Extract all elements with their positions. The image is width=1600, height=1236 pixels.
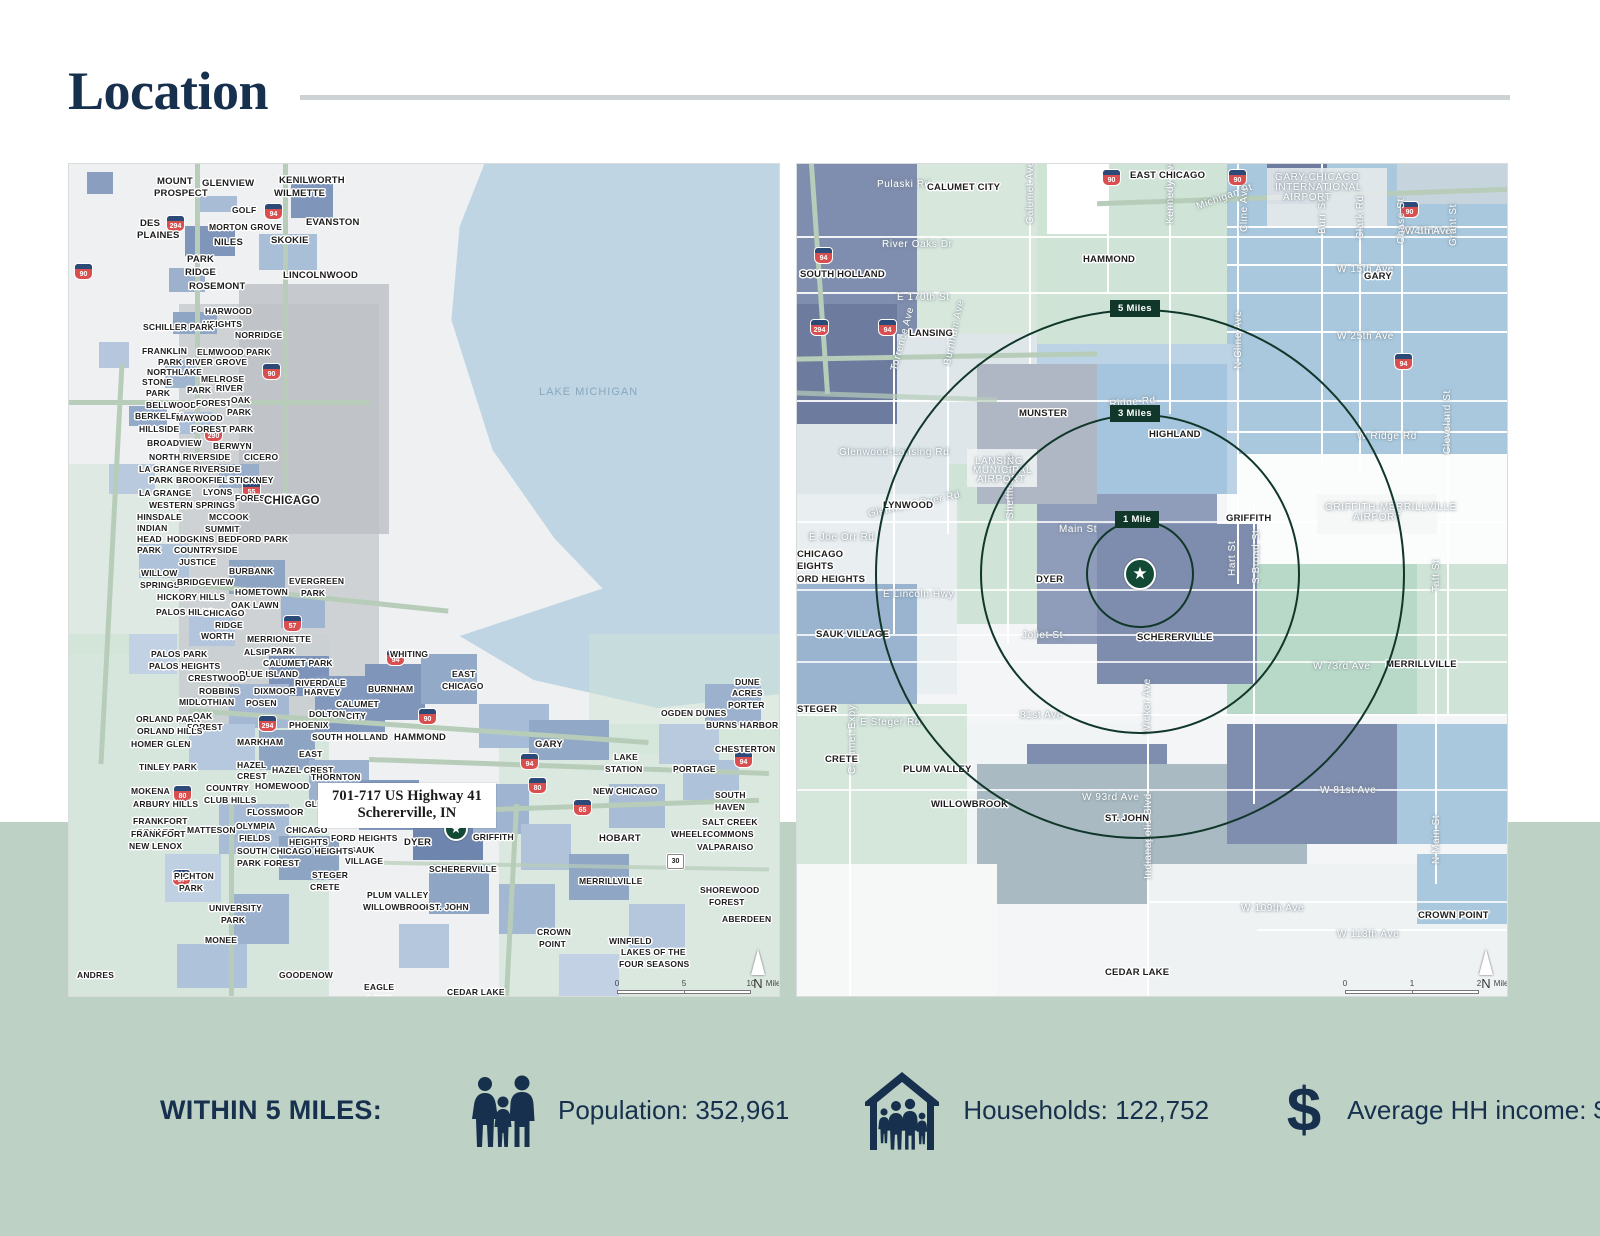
urban-core-2: [239, 284, 389, 534]
tract-block: [569, 854, 629, 900]
road-v11: [1401, 224, 1403, 464]
tract-block: [421, 654, 477, 704]
gary-airport-area: [1267, 168, 1387, 226]
shield-i90: 90: [75, 264, 92, 279]
radius-detail-map[interactable]: 94 294 94 90 90 90 94 Pulaski RdRiver Oa…: [796, 163, 1508, 997]
tract-block: [705, 684, 761, 726]
scale-unit: Miles: [1494, 979, 1508, 988]
tract-block: [87, 172, 113, 194]
house-family-icon: [859, 1068, 945, 1152]
tract-block: [291, 184, 333, 218]
north-arrow-icon: [751, 949, 765, 975]
title-divider: [300, 95, 1510, 100]
tract-block: [165, 360, 199, 388]
highway-i290: [69, 400, 369, 405]
address-line-1: 701-717 US Highway 41: [332, 788, 482, 805]
income-value: Average HH income: $95,230: [1347, 1095, 1600, 1126]
scale-bar-right: 0 1 2 Miles: [1345, 979, 1479, 994]
tract-block: [429, 864, 489, 914]
shield-i94c-right: 94: [1395, 354, 1412, 369]
highway-i57-s: [229, 804, 234, 997]
scale-bar-graphic: [617, 990, 751, 994]
stat-population: Population: 352,961: [464, 1071, 789, 1149]
tract-block: [629, 904, 685, 948]
tract-block: [99, 342, 129, 368]
shield-i57: 57: [284, 616, 301, 631]
road-h14: [1147, 901, 1508, 903]
ring-label-3-miles: 3 Miles: [1110, 405, 1160, 422]
tract-block: [259, 234, 317, 270]
scale-tick: 0: [615, 979, 619, 988]
tract-block: [197, 196, 237, 212]
tract-block: [259, 730, 315, 770]
stats-row: WITHIN 5 MILES: Population: 352,961: [0, 1055, 1600, 1165]
shield-i80: 80: [174, 786, 191, 801]
page-header: Location: [0, 0, 1600, 150]
tract-block: [129, 406, 167, 426]
households-value: Households: 122,752: [963, 1095, 1209, 1126]
tract-block: [365, 664, 425, 720]
shield-i294c: 294: [259, 716, 276, 731]
scale-tick: 5: [682, 979, 686, 988]
tract-block: [177, 944, 247, 988]
region-blue-sse: [1417, 854, 1508, 924]
highway-i94: [283, 164, 288, 494]
family-icon: [464, 1071, 542, 1149]
tract-block: [185, 226, 235, 256]
shield-i57b: 57: [173, 870, 190, 885]
shield-i90b-right: 90: [1229, 170, 1246, 185]
tract-block: [189, 616, 235, 646]
shield-i290: 290: [205, 426, 222, 441]
tract-block: [659, 724, 719, 764]
tract-block: [189, 724, 255, 770]
tract-block: [279, 836, 339, 880]
lake-michigan-label: LAKE MICHIGAN: [539, 386, 638, 398]
shield-i90b: 90: [263, 364, 280, 379]
shield-i94d: 94: [521, 754, 538, 769]
regional-overview-map[interactable]: 294 94 90 90 290 55 57 94 294 90 80 94 8…: [68, 163, 780, 997]
stat-households: Households: 122,752: [859, 1068, 1209, 1152]
dollar-icon: $: [1281, 1074, 1327, 1146]
scale-tick-labels: 0 1 2 Miles: [1345, 979, 1479, 990]
tract-block: [229, 894, 289, 944]
map-canvas-right: 94 294 94 90 90 90 94 Pulaski RdRiver Oa…: [797, 164, 1507, 996]
scale-bar-left: 0 5 10 Miles: [617, 979, 751, 994]
tract-block: [129, 634, 177, 674]
region-blue-se: [1397, 724, 1508, 844]
shield-i94b-right: 94: [879, 320, 896, 335]
shield-i55: 55: [243, 482, 260, 497]
tract-block: [139, 544, 189, 578]
shield-i80b: 80: [529, 778, 546, 793]
road-h15: [1257, 929, 1508, 931]
tract-block: [399, 924, 449, 968]
scale-tick: 1: [1410, 979, 1414, 988]
tract-block: [683, 760, 739, 800]
road-h3: [1227, 226, 1508, 228]
shield-i90c-right: 90: [1401, 202, 1418, 217]
shield-i94c: 94: [387, 650, 404, 665]
population-value: Population: 352,961: [558, 1095, 789, 1126]
region-green-e2: [1417, 564, 1508, 714]
road-v13: [1435, 584, 1437, 884]
shield-us30: 30: [667, 854, 684, 869]
region-white-n: [1047, 164, 1107, 234]
road-h5: [1227, 331, 1508, 333]
north-arrow-icon: [1479, 949, 1493, 975]
road-v12: [1447, 414, 1449, 714]
scale-tick-labels: 0 5 10 Miles: [617, 979, 751, 990]
road-v15: [849, 724, 851, 997]
scale-tick: 0: [1343, 979, 1347, 988]
stat-income: $ Average HH income: $95,230: [1281, 1074, 1600, 1146]
address-callout: 701-717 US Highway 41 Schererville, IN: [318, 783, 496, 828]
map-canvas-left: 294 94 90 90 290 55 57 94 294 90 80 94 8…: [69, 164, 779, 996]
shield-i94e: 94: [735, 752, 752, 767]
region-grey-ne: [1397, 164, 1508, 204]
tract-block: [559, 954, 619, 997]
shield-i90-right: 90: [1103, 170, 1120, 185]
scale-tick: 2: [1477, 979, 1481, 988]
shield-i90c: 90: [419, 709, 436, 724]
scale-bar-graphic: [1345, 990, 1479, 994]
scale-tick: 10: [747, 979, 756, 988]
region-green-nw: [917, 164, 1047, 344]
page-title: Location: [68, 60, 268, 122]
shield-i294-right: 294: [811, 320, 828, 335]
scale-unit: Miles: [766, 979, 780, 988]
within-5-miles-label: WITHIN 5 MILES:: [160, 1095, 382, 1126]
shield-i94-right: 94: [815, 248, 832, 263]
ring-label-5-miles: 5 Miles: [1110, 300, 1160, 317]
shield-i294: 294: [167, 216, 184, 231]
shield-i94: 94: [265, 204, 282, 219]
shield-i65: 65: [574, 800, 591, 815]
site-star-marker-detail[interactable]: ★: [1124, 558, 1156, 590]
region-white-ssw: [797, 864, 997, 997]
road-h4: [1227, 264, 1508, 266]
address-line-2: Schererville, IN: [332, 805, 482, 822]
ring-label-1-mile: 1 Mile: [1115, 511, 1159, 528]
svg-text:$: $: [1287, 1076, 1321, 1145]
highway-i294: [195, 164, 200, 464]
